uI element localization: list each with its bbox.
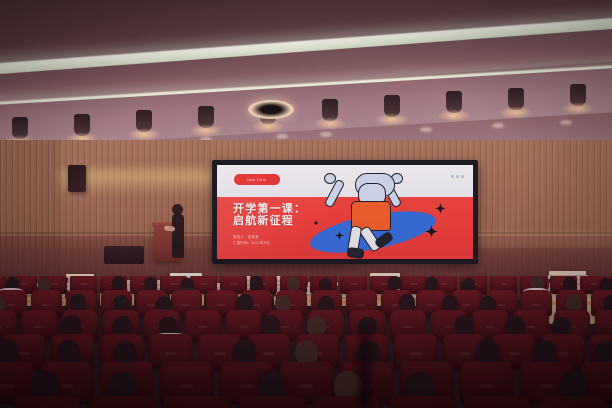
slide-badge: New Term — [234, 174, 280, 185]
slide-subtitle-line2: 汇报时间：2024年9月 — [233, 241, 270, 246]
led-screen: New Term 开学第一课： 启航新征程 演讲人：某某某 汇报时间：2024年… — [217, 165, 473, 259]
slide-badge-label: New Term — [247, 177, 266, 182]
audience-head — [455, 315, 473, 335]
audience-head — [388, 276, 401, 290]
recessed-light — [492, 123, 504, 128]
auditorium-seat — [464, 396, 530, 408]
recessed-light — [560, 120, 572, 125]
audience-head — [144, 277, 157, 291]
auditorium-seat — [389, 396, 455, 408]
auditorium-seat — [14, 396, 80, 408]
audience-head — [287, 277, 300, 291]
slide-subtitle-line1: 演讲人：某某某 — [233, 235, 259, 240]
audience-head — [425, 277, 438, 291]
slide-headline-line1: 开学第一课： — [233, 203, 306, 215]
audience-head — [506, 316, 524, 336]
audience-head — [112, 276, 125, 290]
audience-head — [261, 315, 279, 335]
illustration-hand-left — [324, 173, 336, 184]
downlight-glow — [375, 113, 409, 126]
audience-head — [563, 277, 576, 291]
recessed-light — [276, 134, 288, 139]
auditorium-seat — [89, 396, 155, 408]
illustration-shoe-right — [374, 231, 394, 250]
audience-head — [237, 294, 253, 311]
recessed-light — [320, 132, 332, 137]
auditorium-seat — [539, 396, 605, 408]
jumping-student-illustration — [325, 171, 421, 257]
audience-head — [113, 316, 131, 336]
auditorium-seat — [164, 396, 230, 408]
audience-head — [399, 294, 415, 311]
center-aisle — [358, 328, 372, 408]
seat-row — [0, 396, 612, 408]
downlight-glow — [127, 128, 161, 141]
auditorium-seat — [239, 396, 305, 408]
sparkle-star-icon — [425, 225, 438, 238]
loudspeaker-icon — [68, 165, 86, 192]
auditorium-photo: New Term 开学第一课： 启航新征程 演讲人：某某某 汇报时间：2024年… — [0, 0, 612, 408]
audience-head — [0, 339, 18, 364]
downlight-glow — [313, 117, 347, 130]
recessed-light — [420, 127, 432, 132]
audience-head — [476, 339, 499, 364]
downlight-glow — [561, 102, 595, 115]
sparkle-star-icon — [435, 201, 446, 212]
ring-light-fixture — [248, 100, 294, 119]
ceiling — [0, 0, 612, 152]
audience-head — [233, 339, 256, 364]
audience-head — [250, 276, 263, 290]
audience-seating — [0, 276, 612, 408]
audience-head — [307, 316, 325, 336]
downlight-glow — [499, 106, 533, 119]
sparkle-star-icon — [313, 213, 319, 219]
sparkle-star-icon — [335, 227, 344, 236]
book-stack-layer — [549, 271, 586, 275]
audience-head — [62, 315, 80, 335]
decor-dots-icon — [451, 175, 464, 178]
audience-head — [70, 294, 86, 311]
slide-headline-line2: 启航新征程 — [233, 215, 294, 227]
